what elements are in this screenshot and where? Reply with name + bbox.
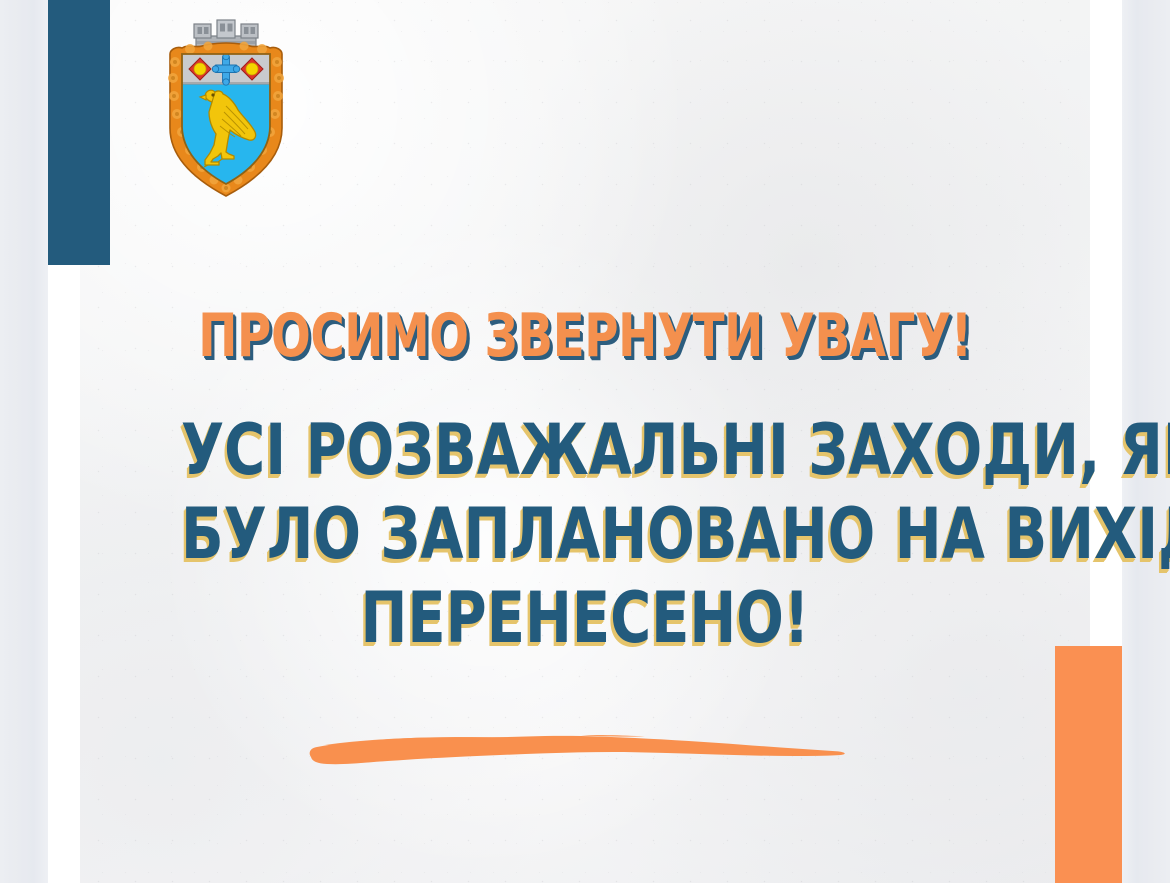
page-background-left [0, 0, 48, 883]
orange-accent-block [1055, 646, 1122, 883]
page-headline: ПРОСИМО ЗВЕРНУТИ УВАГУ! [191, 300, 979, 372]
body-line-3: ПЕРЕНЕСЕНО! [181, 576, 989, 660]
body-line-2: БУЛО ЗАПЛАНОВАНО НА ВИХІДНІ - [181, 492, 989, 576]
body-line-1: УСІ РОЗВАЖАЛЬНІ ЗАХОДИ, ЯКІ [181, 408, 989, 492]
poster-canvas: ПРОСИМО ЗВЕРНУТИ УВАГУ! УСІ РОЗВАЖАЛЬНІ … [0, 0, 1170, 883]
poster-body: УСІ РОЗВАЖАЛЬНІ ЗАХОДИ, ЯКІ БУЛО ЗАПЛАНО… [80, 408, 1090, 660]
coat-of-arms-icon [156, 10, 296, 200]
orange-brush-underline [305, 726, 850, 776]
teal-accent-block [48, 0, 110, 265]
